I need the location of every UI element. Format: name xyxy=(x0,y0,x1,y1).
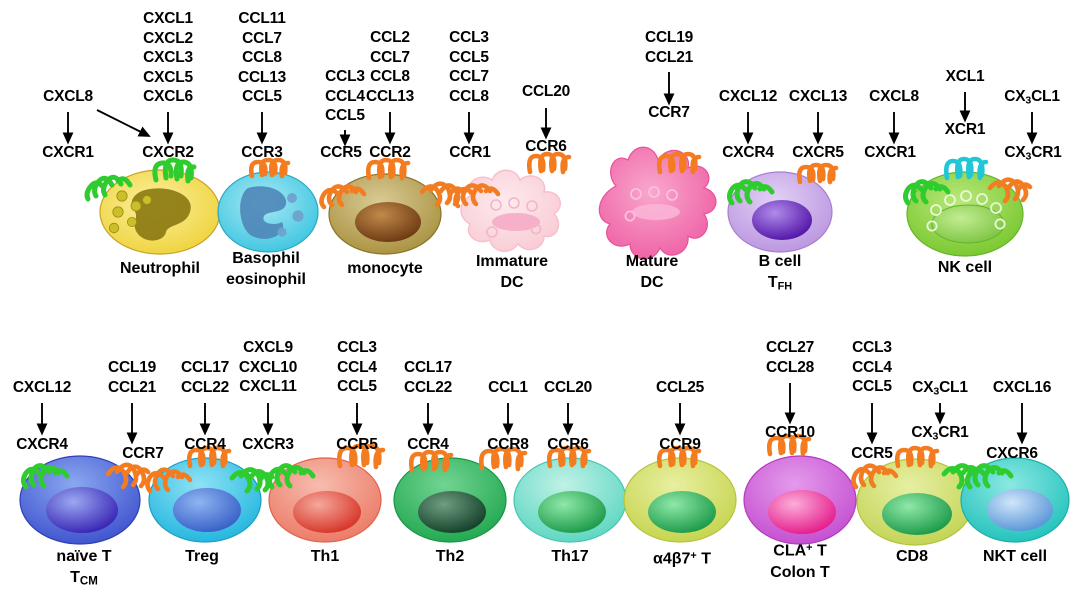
cell-label-nkt: NKT cell xyxy=(983,546,1047,567)
cell-label-th2: Th2 xyxy=(436,546,464,567)
ligand-group-basophil: CCL11CCL7CCL8CCL13CCL5 xyxy=(238,9,286,107)
receptor-label-cxcr4-naive-t: CXCR4 xyxy=(16,436,68,454)
receptor-cxcr4-bcell xyxy=(730,182,773,203)
ligand-group-th1-ccl: CCL3CCL4CCL5 xyxy=(337,338,377,397)
cell-label-nk: NK cell xyxy=(938,257,992,278)
receptor-cxcr6-nkt xyxy=(968,466,1012,487)
receptor-label-ccr6-immature-dc: CCR6 xyxy=(525,138,566,156)
cell-basophil-eosinophil xyxy=(218,172,318,252)
ligand-group-nk-xcl1: XCL1 xyxy=(946,67,985,87)
chemokine-receptor-figure: CXCL8 CXCL1CXCL2CXCL3CXCL5CXCL6 CCL11CCL… xyxy=(0,0,1080,596)
receptor-label-ccr7-naive-t: CCR7 xyxy=(122,445,163,463)
receptor-cx3cr1-nk xyxy=(990,180,1030,201)
receptor-label-ccr8-th2: CCR8 xyxy=(487,436,528,454)
cell-label-naive-t: naïve TTCM xyxy=(56,546,111,592)
ligand-group-naive-t-cxcl12: CXCL12 xyxy=(13,378,71,398)
cell-label-neutrophil: Neutrophil xyxy=(120,258,200,279)
cell-label-immature-dc: ImmatureDC xyxy=(476,251,548,293)
receptor-cxcr3-th1 xyxy=(270,466,314,487)
receptor-green-treg xyxy=(232,470,272,491)
receptor-label-ccr3-basophil: CCR3 xyxy=(241,144,282,162)
receptor-cxcr6-cd8 xyxy=(944,466,984,487)
receptor-cxcr5-bcell xyxy=(799,165,836,182)
ligand-group-a4b7: CCL25 xyxy=(656,378,704,398)
cell-cd8 xyxy=(857,459,973,545)
cell-label-th17: Th17 xyxy=(551,546,588,567)
ligand-group-treg: CCL17CCL22 xyxy=(181,358,229,397)
receptor-label-ccr2-monocyte: CCR2 xyxy=(369,144,410,162)
ligand-group-th2-ccl17-22: CCL17CCL22 xyxy=(404,358,452,397)
receptor-label-ccr10-cla: CCR10 xyxy=(765,424,815,442)
receptor-cxcr2-neutrophil xyxy=(155,160,194,181)
receptor-label-cx3cr1-cd8: CX3CR1 xyxy=(911,424,968,442)
receptor-cxcr1-neutrophil xyxy=(87,177,130,199)
cell-th17 xyxy=(514,458,626,542)
receptor-ccr2-monocyte xyxy=(368,160,408,178)
cell-label-treg: Treg xyxy=(185,546,219,567)
receptor-label-ccr7-mature-dc: CCR7 xyxy=(648,104,689,122)
cell-th1 xyxy=(269,458,381,542)
cell-monocyte xyxy=(329,174,441,254)
ligand-group-neutrophil-cxcl-family: CXCL1CXCL2CXCL3CXCL5CXCL6 xyxy=(143,9,193,107)
ligand-group-cla: CCL27CCL28 xyxy=(766,338,814,377)
receptor-cx3cr1-cd8 xyxy=(897,448,937,466)
ligand-group-th17: CCL20 xyxy=(544,378,592,398)
receptor-label-cxcr6-cd8: CXCR6 xyxy=(986,445,1038,463)
receptor-label-ccr4-treg: CCR4 xyxy=(184,436,225,454)
cell-th2 xyxy=(394,458,506,542)
receptor-ccr4-th2 xyxy=(411,452,451,470)
receptor-label-cx3cr1-nk: CX3CR1 xyxy=(1004,144,1061,162)
cell-label-basophil-eosinophil: Basophileosinophil xyxy=(226,248,306,290)
receptor-xcr1-nk xyxy=(946,159,986,178)
ligand-group-monocyte-ccr2: CCL2CCL7CCL8CCL13 xyxy=(366,28,414,106)
ligand-group-immature-dc-ccr6: CCL20 xyxy=(522,82,570,102)
ligand-group-naive-t-ccl19-21: CCL19CCL21 xyxy=(108,358,156,397)
ligand-group-th2-ccl1: CCL1 xyxy=(488,378,528,398)
receptor-label-ccr5-cd8: CCR5 xyxy=(851,445,892,463)
receptor-ccr5-monocyte xyxy=(322,186,365,207)
ligand-group-nk-cxcl8: CXCL8 xyxy=(869,87,919,107)
cell-label-monocyte: monocyte xyxy=(347,258,423,279)
cell-treg xyxy=(149,458,261,542)
ligand-group-monocyte-ccr5: CCL3CCL4CCL5 xyxy=(325,67,365,126)
receptor-ccr3-basophil xyxy=(251,160,288,176)
receptor-label-ccr9-a4b7: CCR9 xyxy=(659,436,700,454)
cell-label-cla-t: CLA+ TColon T xyxy=(770,538,830,583)
receptor-label-ccr5-monocyte: CCR5 xyxy=(320,144,361,162)
receptor-label-ccr5-th1: CCR5 xyxy=(336,436,377,454)
cell-nkt xyxy=(961,458,1069,542)
cell-immature-dc xyxy=(461,170,560,251)
receptor-label-ccr1-immature-dc: CCR1 xyxy=(449,144,490,162)
ligand-group-th1-cxcl: CXCL9CXCL10CXCL11 xyxy=(239,338,297,397)
cell-label-cd8: CD8 xyxy=(896,546,928,567)
receptor-cxcr1-nk xyxy=(906,182,949,203)
cell-mature-dc xyxy=(599,147,716,259)
receptor-ccr7-naive-t xyxy=(108,465,148,487)
ligand-group-mature-dc: CCL19CCL21 xyxy=(645,28,693,67)
receptor-label-cxcr3-th1: CXCR3 xyxy=(242,436,294,454)
receptor-label-ccr4-th2: CCR4 xyxy=(407,436,448,454)
receptor-label-xcr1-nk: XCR1 xyxy=(945,121,986,139)
receptor-ccr1-monocyte xyxy=(422,184,462,205)
ligand-group-nk-cx3cl1: CX3CL1 xyxy=(1004,87,1060,111)
cell-nk xyxy=(907,172,1023,256)
receptor-label-cxcr5-bcell: CXCR5 xyxy=(792,144,844,162)
receptor-label-cxcr4-bcell: CXCR4 xyxy=(722,144,774,162)
cell-label-bcell: B cellTFH xyxy=(759,251,802,297)
receptor-ccr5-cd8 xyxy=(854,466,897,487)
receptor-label-cxcr1-nk: CXCR1 xyxy=(864,144,916,162)
cell-neutrophil xyxy=(100,170,220,254)
ligand-group-neutrophil-cxcl8: CXCL8 xyxy=(43,87,93,107)
ligand-group-nkt: CXCL16 xyxy=(993,378,1051,398)
ligand-group-bcell-cxcl13: CXCL13 xyxy=(789,87,847,107)
receptor-ccr7-treg xyxy=(148,470,191,491)
ligand-group-cd8-ccl: CCL3CCL4CCL5 xyxy=(852,338,892,397)
cell-cla-t xyxy=(744,456,856,544)
cell-label-a4b7-t: α4β7+ T xyxy=(653,546,711,570)
cell-bcell xyxy=(728,172,832,252)
cell-a4b7-t xyxy=(624,458,736,542)
ligand-group-bcell-cxcl12: CXCL12 xyxy=(719,87,777,107)
receptor-cxcr4-naive-t xyxy=(24,466,68,487)
cell-label-mature-dc: MatureDC xyxy=(626,251,678,293)
receptor-label-cxcr1-neutrophil: CXCR1 xyxy=(42,144,94,162)
receptor-label-ccr6-th17: CCR6 xyxy=(547,436,588,454)
receptor-ccr7-mature-dc xyxy=(659,154,699,172)
receptor-ccr6-immature-dc xyxy=(529,154,569,172)
cell-naive-t xyxy=(20,456,140,544)
receptor-ccr1-immature-dc xyxy=(456,185,499,206)
ligand-group-immature-dc-ccr1: CCL3CCL5CCL7CCL8 xyxy=(449,28,489,106)
ligand-group-cd8-cx3cl1: CX3CL1 xyxy=(912,378,968,402)
receptor-label-cxcr2-neutrophil: CXCR2 xyxy=(142,144,194,162)
cell-label-th1: Th1 xyxy=(311,546,339,567)
